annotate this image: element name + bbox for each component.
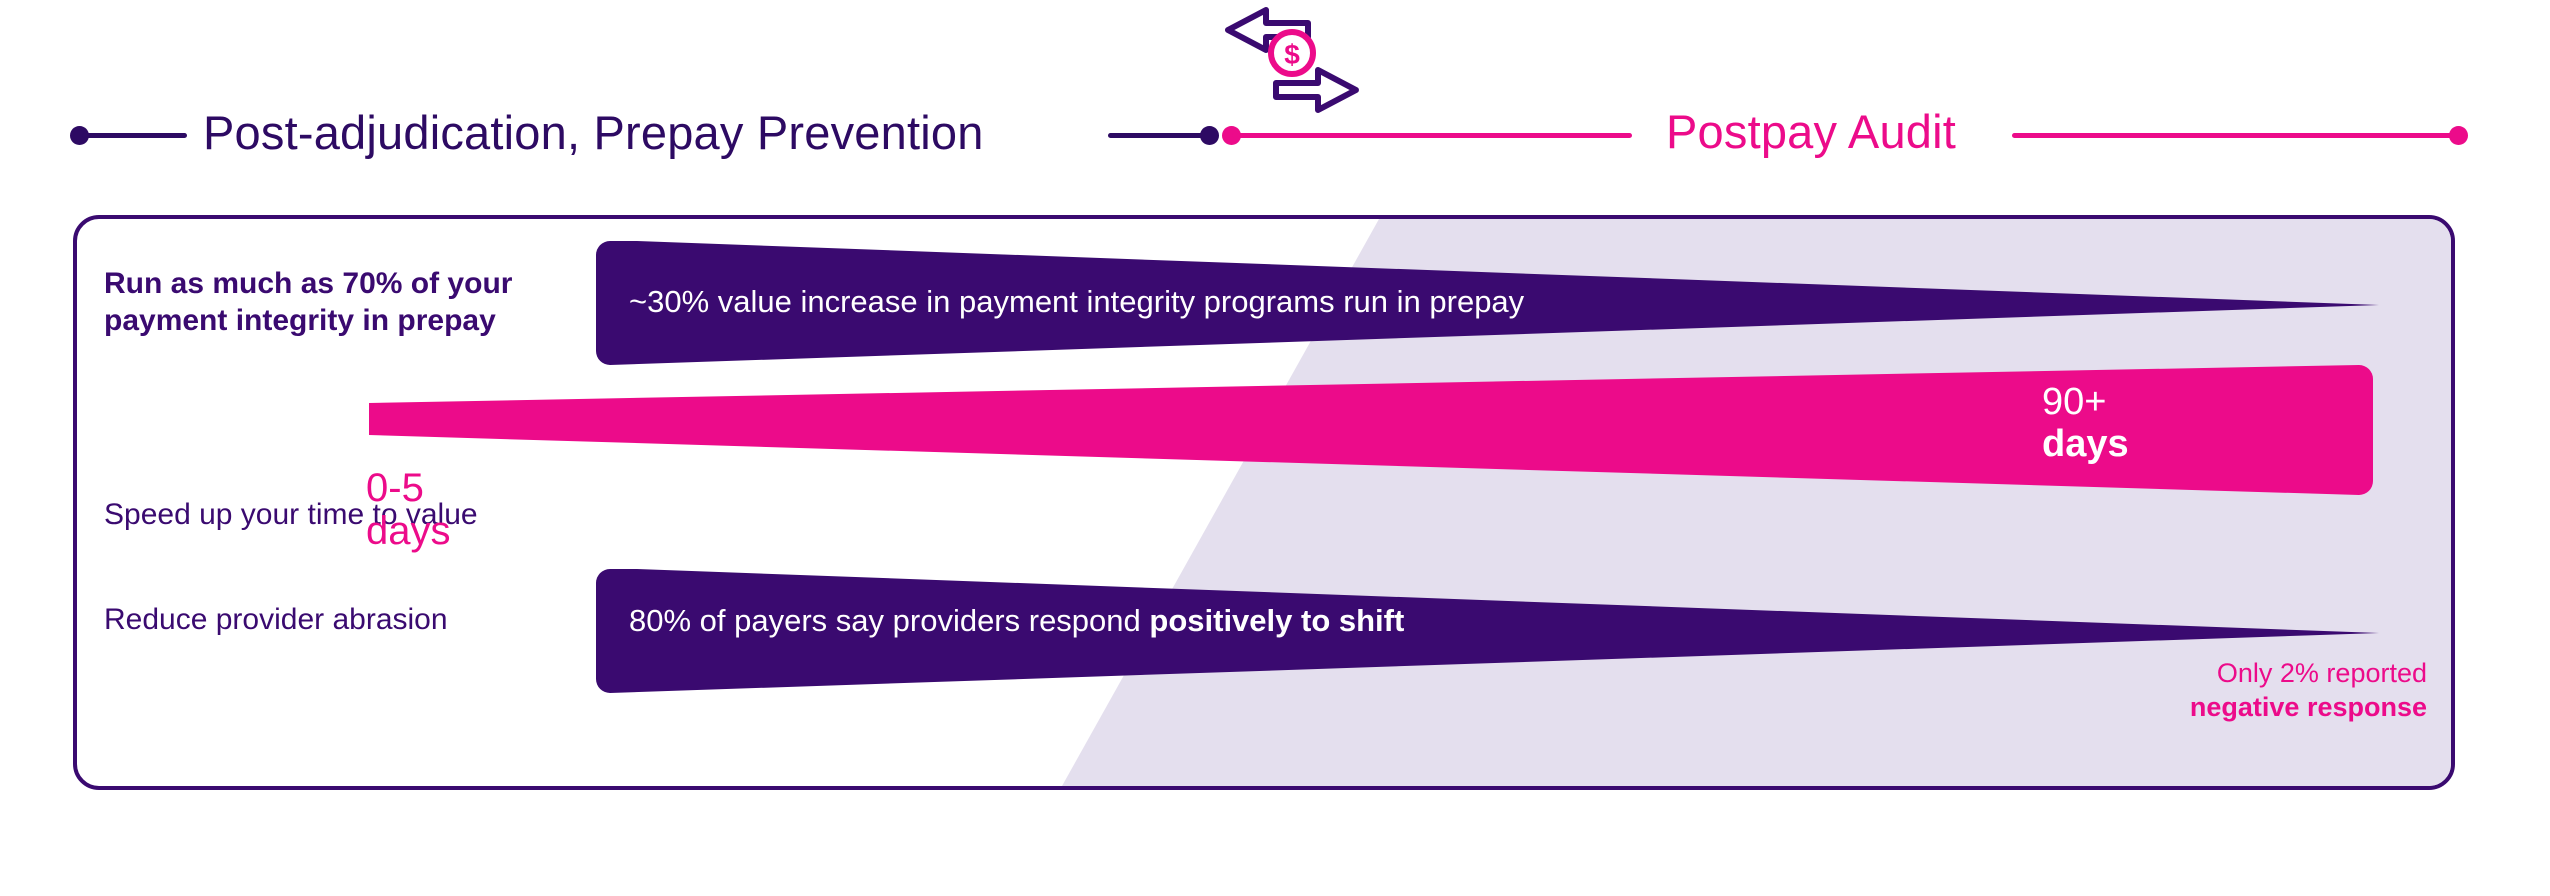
timeline-right-label: Postpay Audit <box>1666 104 1956 159</box>
postpay-days-unit: days <box>2042 424 2129 466</box>
row-label-prepay-share: Run as much as 70% of your payment integ… <box>104 266 574 339</box>
timeline-mid-dot-purple <box>1200 126 1219 145</box>
timeline-header: Post-adjudication, Prepay Prevention Pos… <box>0 0 2550 200</box>
note-line-2: negative response <box>2190 691 2427 725</box>
wedge-row-3-text: 80% of payers say providers respond posi… <box>629 603 1404 639</box>
note-line-1: Only 2% reported <box>2190 657 2427 691</box>
money-exchange-icon: $ <box>1222 6 1362 116</box>
prepay-days-unit: days <box>366 509 451 553</box>
svg-text:$: $ <box>1284 39 1300 70</box>
row-label-time-to-value: Speed up your time to value <box>76 497 576 534</box>
timeline-left-label: Post-adjudication, Prepay Prevention <box>203 105 984 160</box>
wedge-row-3-text-bold: positively to shift <box>1149 603 1404 638</box>
negative-response-note: Only 2% reported negative response <box>2190 657 2427 725</box>
comparison-card: Run as much as 70% of your payment integ… <box>73 215 2455 790</box>
wedge-row-1-text: ~30% value increase in payment integrity… <box>629 284 1524 320</box>
timeline-right-line-a <box>1232 133 1632 138</box>
timeline-end-dot <box>2449 126 2468 145</box>
row-label-provider-abrasion: Reduce provider abrasion <box>104 602 574 639</box>
prepay-days-number: 0-5 <box>366 466 424 510</box>
time-to-value-postpay: 90+ days <box>2042 382 2129 466</box>
row-1-label-line-1: Run as much as 70% of your <box>104 267 512 300</box>
row-1-label-line-2: payment integrity in prepay <box>104 304 496 337</box>
timeline-right-line-b <box>2012 133 2460 138</box>
row-3-label-text: Reduce provider abrasion <box>104 603 448 636</box>
wedge-row-3-text-plain: 80% of payers say providers respond <box>629 603 1149 638</box>
timeline-left-line-a <box>82 133 187 138</box>
timeline-left-line-b <box>1108 133 1213 138</box>
postpay-days-number: 90+ <box>2042 382 2129 424</box>
time-to-value-prepay: 0-5 days <box>366 467 451 553</box>
